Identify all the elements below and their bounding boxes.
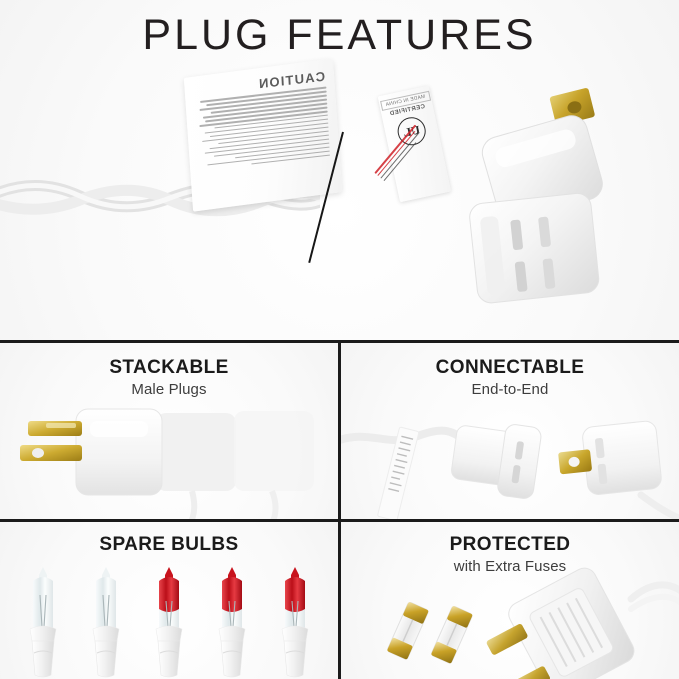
plug-features-infographic: PLUG FEATURES CAUTION [0, 0, 679, 679]
panel-stackable-title: STACKABLE [0, 357, 338, 379]
panel-spare-bulbs-header: SPARE BULBS [0, 534, 338, 556]
connectable-plugs-graphic [341, 407, 679, 519]
bulb-red [209, 565, 255, 679]
panel-connectable: CONNECTABLE End-to-End [341, 343, 679, 519]
page-title: PLUG FEATURES [0, 14, 679, 57]
bulb-clear [83, 565, 129, 679]
panel-protected-title: PROTECTED [341, 534, 679, 556]
panel-connectable-title: CONNECTABLE [341, 357, 679, 379]
panel-spare-bulbs: SPARE BULBS [0, 522, 338, 679]
spare-bulbs-row [0, 565, 338, 679]
hero-panel: PLUG FEATURES CAUTION [0, 0, 679, 341]
panel-connectable-subtitle: End-to-End [341, 381, 679, 398]
panel-stackable-subtitle: Male Plugs [0, 381, 338, 398]
panel-stackable: STACKABLE Male Plugs [0, 343, 338, 519]
panel-stackable-header: STACKABLE Male Plugs [0, 357, 338, 398]
fuse-access-plug-graphic [481, 565, 679, 679]
bulb-red [272, 565, 318, 679]
caution-tag-fineprint [195, 87, 330, 171]
caution-tag: CAUTION [184, 58, 342, 211]
panel-protected: PROTECTED with Extra Fuses [341, 522, 679, 679]
bulb-clear [20, 565, 66, 679]
bulb-red [146, 565, 192, 679]
panel-spare-bulbs-title: SPARE BULBS [0, 534, 338, 556]
panel-connectable-header: CONNECTABLE End-to-End [341, 357, 679, 398]
stacked-plugs-graphic [6, 399, 336, 519]
hero-plug-graphic [455, 86, 635, 306]
